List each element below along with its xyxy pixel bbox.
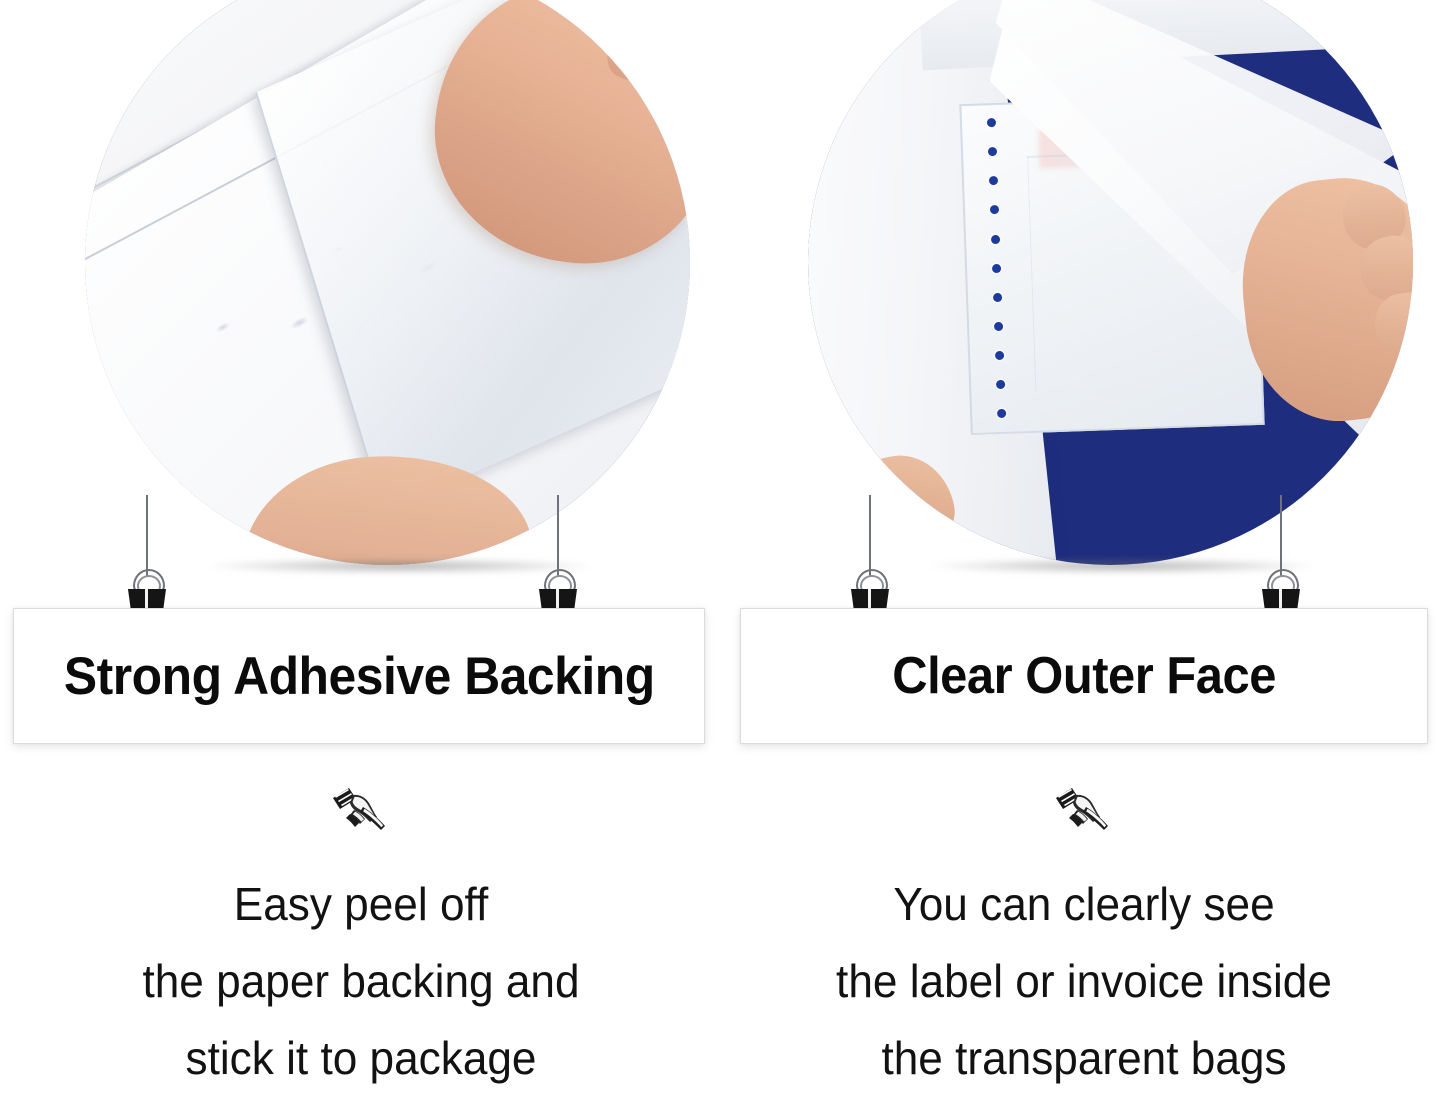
caption-line: the transparent bags xyxy=(737,1020,1430,1097)
perforation-hole xyxy=(990,206,999,215)
panel-title: Clear Outer Face xyxy=(892,650,1276,702)
pointing-hand-icon xyxy=(1052,784,1116,836)
panel-caption-clear-outer-face: You can clearly see the label or invoice… xyxy=(737,866,1430,1097)
caption-line: the paper backing and xyxy=(14,943,707,1020)
feature-panel-adhesive-backing: Strong Adhesive Backing xyxy=(0,0,722,1101)
feature-infographic: Strong Adhesive Backing xyxy=(0,0,1445,1101)
binder-clip-right xyxy=(535,495,581,625)
adhesive-backing-photo xyxy=(85,0,690,565)
caption-line: You can clearly see xyxy=(737,866,1430,943)
panel-caption-adhesive-backing: Easy peel off the paper backing and stic… xyxy=(14,866,707,1097)
perforation-hole xyxy=(995,351,1004,360)
perforation-hole xyxy=(997,409,1006,418)
perforation-hole xyxy=(987,118,996,127)
adhesive-backing-photo-wrap xyxy=(85,0,690,565)
clip-wire xyxy=(557,495,559,577)
perforation-hole xyxy=(992,264,1001,273)
binder-clip-right xyxy=(1258,495,1304,625)
perforation-hole xyxy=(996,380,1005,389)
panel-title: Strong Adhesive Backing xyxy=(60,650,658,703)
binder-clip-left xyxy=(847,495,893,625)
title-card-adhesive-backing: Strong Adhesive Backing xyxy=(13,608,705,744)
perforation-hole xyxy=(993,293,1002,302)
caption-line: Easy peel off xyxy=(14,866,707,943)
clear-outer-face-photo-wrap xyxy=(808,0,1413,565)
perforation-holes xyxy=(977,118,1017,419)
feature-panel-clear-outer-face: Clear Outer Face Yo xyxy=(723,0,1445,1101)
perforation-hole xyxy=(991,235,1000,244)
finger xyxy=(1369,288,1413,356)
clip-wire xyxy=(869,495,871,577)
perforation-hole xyxy=(988,147,997,156)
caption-line: the label or invoice inside xyxy=(737,943,1430,1020)
perforation-hole xyxy=(994,322,1003,331)
clip-wire xyxy=(146,495,148,577)
title-card-clear-outer-face: Clear Outer Face xyxy=(740,608,1428,744)
clear-outer-face-photo xyxy=(808,0,1413,565)
pointing-hand-icon xyxy=(329,784,393,836)
binder-clip-left xyxy=(124,495,170,625)
clip-wire xyxy=(1280,495,1282,577)
caption-line: stick it to package xyxy=(14,1020,707,1097)
perforation-hole xyxy=(989,176,998,185)
